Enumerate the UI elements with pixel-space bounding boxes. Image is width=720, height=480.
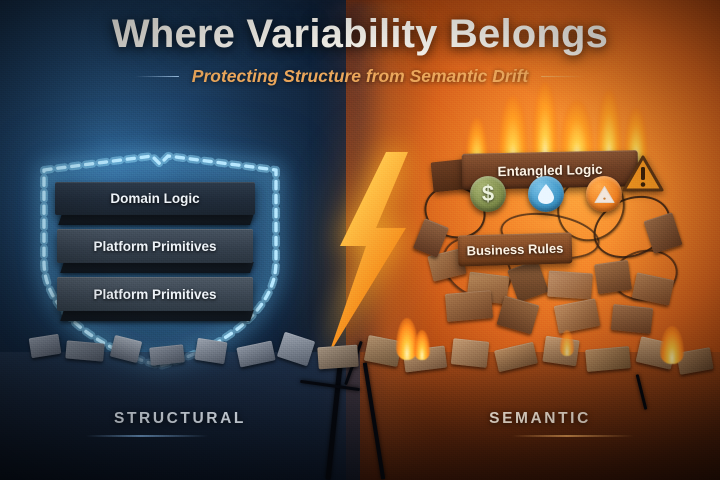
label-structural: STRUCTURAL: [0, 410, 360, 428]
rubble-rock: [194, 338, 227, 364]
block-platform-primitives-1[interactable]: Platform Primitives: [57, 229, 253, 263]
rubble-rock: [65, 340, 104, 361]
debris-brick: [594, 260, 632, 294]
block-base-shadow: [60, 310, 254, 321]
plank-business-rules[interactable]: Business Rules: [458, 232, 573, 266]
rubble-rock: [149, 344, 185, 365]
water-drop-icon[interactable]: [528, 176, 564, 212]
label-semantic: SEMANTIC: [360, 410, 720, 428]
dollar-glyph: $: [482, 181, 494, 207]
block-base-shadow: [58, 214, 254, 225]
page-title: Where Variability Belongs: [0, 12, 720, 57]
triangle-glyph: [594, 185, 615, 204]
page-subtitle: Protecting Structure from Semantic Drift: [192, 66, 528, 87]
block-platform-primitives-2[interactable]: Platform Primitives: [57, 277, 253, 311]
block-domain-logic[interactable]: Domain Logic: [55, 182, 255, 215]
block-base-shadow: [60, 262, 254, 273]
debris-brick: [611, 304, 653, 334]
block-label: Domain Logic: [110, 191, 199, 206]
block-label: Platform Primitives: [93, 287, 216, 302]
subtitle-rule-right: [541, 76, 585, 78]
debris-brick: [445, 290, 493, 322]
dollar-icon[interactable]: $: [470, 176, 506, 212]
footer-rule-right: [512, 435, 634, 437]
subtitle-rule-left: [135, 76, 179, 78]
rubble-rock: [317, 345, 358, 370]
triangle-icon[interactable]: [586, 176, 622, 212]
rubble-rock: [451, 338, 490, 368]
rubble-rock: [585, 346, 631, 372]
debris-brick: [547, 270, 593, 299]
subtitle-row: Protecting Structure from Semantic Drift: [0, 66, 720, 87]
plank-label: Business Rules: [466, 241, 563, 259]
block-label: Platform Primitives: [93, 239, 216, 254]
poster-canvas: Where Variability Belongs Protecting Str…: [0, 0, 720, 480]
footer-rule-left: [86, 435, 208, 437]
water-drop-glyph: [536, 183, 556, 205]
warning-triangle-icon[interactable]: [622, 155, 664, 193]
